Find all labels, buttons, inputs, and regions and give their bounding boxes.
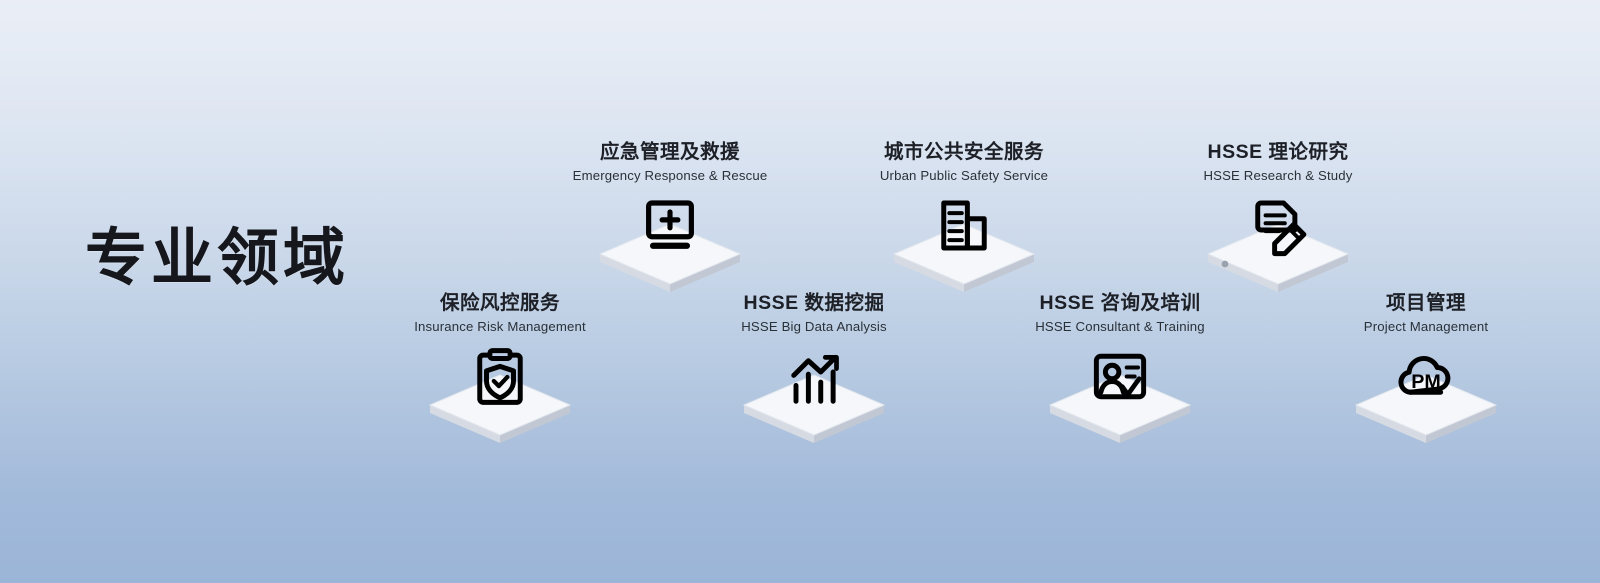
document-pencil-icon (1242, 194, 1314, 266)
pillar-labels: 城市公共安全服务 Urban Public Safety Service (834, 140, 1094, 184)
bar-chart-trend-arrow-icon (778, 345, 850, 417)
pillar-labels: HSSE 数据挖掘 HSSE Big Data Analysis (684, 291, 944, 335)
pillar-plinth-wrap (1198, 194, 1358, 292)
pillar-labels: 保险风控服务 Insurance Risk Management (370, 291, 630, 335)
pillar-plinth-wrap: PM (1346, 345, 1506, 443)
pillar-labels: HSSE 咨询及培训 HSSE Consultant & Training (990, 291, 1250, 335)
pillar-plinth-wrap (420, 345, 580, 443)
banner-stage: 专业领域 应急管理及救援 Emergency Response & Rescue (0, 0, 1600, 583)
pillar-emergency-response[interactable]: 应急管理及救援 Emergency Response & Rescue (540, 140, 800, 292)
pillar-label-cn: HSSE 咨询及培训 (990, 291, 1250, 316)
pillar-labels: 应急管理及救援 Emergency Response & Rescue (540, 140, 800, 184)
pillar-plinth-wrap (590, 194, 750, 292)
cloud-pm-icon: PM (1390, 345, 1462, 417)
clipboard-shield-check-icon (464, 345, 536, 417)
pillar-label-en: HSSE Consultant & Training (990, 318, 1250, 335)
first-aid-monitor-icon (634, 194, 706, 266)
pillar-hsse-research[interactable]: HSSE 理论研究 HSSE Research & Study (1148, 140, 1408, 292)
page-title: 专业领域 (85, 228, 349, 290)
pillar-labels: 项目管理 Project Management (1296, 291, 1556, 335)
pillar-label-en: Emergency Response & Rescue (540, 167, 800, 184)
pillar-insurance-risk[interactable]: 保险风控服务 Insurance Risk Management (370, 291, 630, 443)
pillar-label-en: Urban Public Safety Service (834, 167, 1094, 184)
pillar-label-cn: HSSE 数据挖掘 (684, 291, 944, 316)
pillar-project-management[interactable]: 项目管理 Project Management PM (1296, 291, 1556, 443)
id-card-person-check-icon (1084, 345, 1156, 417)
city-buildings-icon (928, 194, 1000, 266)
pillar-hsse-big-data[interactable]: HSSE 数据挖掘 HSSE Big Data Analysis (684, 291, 944, 443)
pillar-label-en: Insurance Risk Management (370, 318, 630, 335)
pillar-urban-public-safety[interactable]: 城市公共安全服务 Urban Public Safety Service (834, 140, 1094, 292)
cloud-pm-label: PM (1411, 371, 1441, 393)
pillar-plinth-wrap (734, 345, 894, 443)
pillar-label-cn: 保险风控服务 (370, 291, 630, 316)
pillar-plinth-wrap (884, 194, 1044, 292)
pillar-label-cn: 应急管理及救援 (540, 140, 800, 165)
pillar-label-cn: 项目管理 (1296, 291, 1556, 316)
pillar-label-en: HSSE Big Data Analysis (684, 318, 944, 335)
pillar-label-en: HSSE Research & Study (1148, 167, 1408, 184)
pillar-label-cn: 城市公共安全服务 (834, 140, 1094, 165)
pillar-hsse-consultant[interactable]: HSSE 咨询及培训 HSSE Consultant & Training (990, 291, 1250, 443)
pillar-label-en: Project Management (1296, 318, 1556, 335)
pillar-labels: HSSE 理论研究 HSSE Research & Study (1148, 140, 1408, 184)
pillar-plinth-wrap (1040, 345, 1200, 443)
pillar-label-cn: HSSE 理论研究 (1148, 140, 1408, 165)
